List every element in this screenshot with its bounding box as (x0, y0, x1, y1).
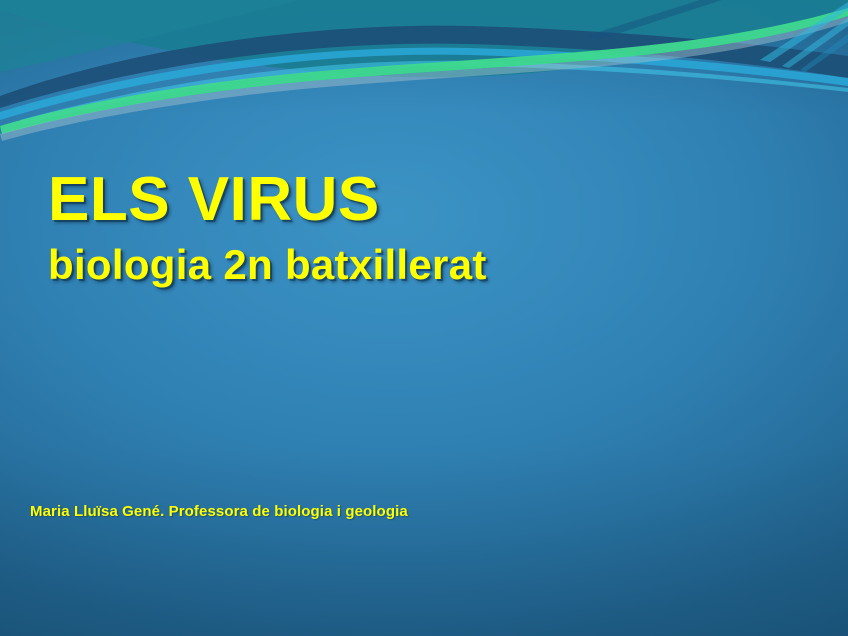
presentation-slide: ELS VIRUS biologia 2n batxillerat Maria … (0, 0, 848, 636)
title-block: ELS VIRUS biologia 2n batxillerat (48, 168, 788, 287)
top-wave-ribbon (0, 0, 848, 180)
author-credit: Maria Lluïsa Gené. Professora de biologi… (30, 503, 408, 520)
page-title: ELS VIRUS (48, 168, 788, 231)
page-subtitle: biologia 2n batxillerat (48, 243, 788, 287)
